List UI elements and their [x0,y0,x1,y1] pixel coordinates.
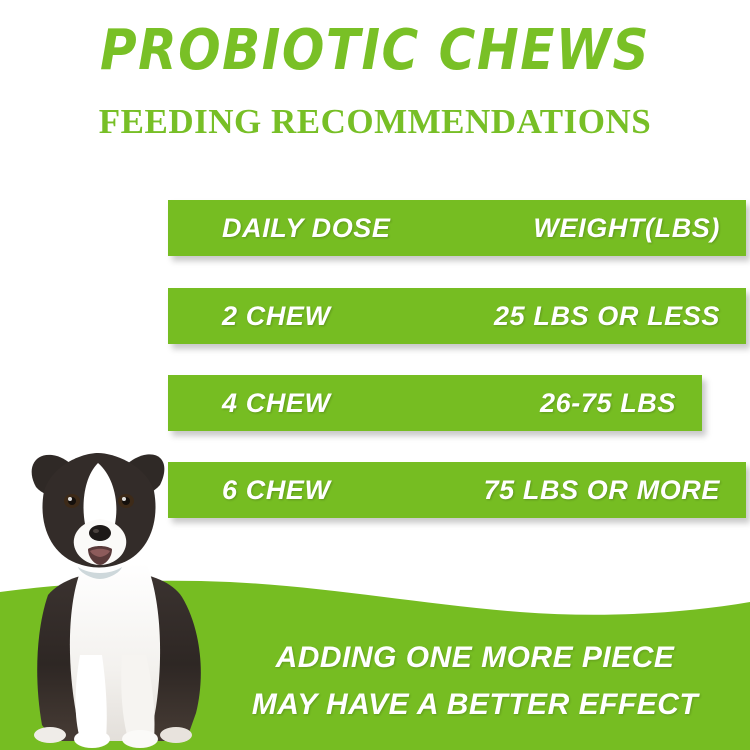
table-row: 2 CHEW 25 LBS OR LESS [168,288,746,344]
dog-photo [10,445,225,750]
column-header-daily-dose: DAILY DOSE [222,213,391,244]
table-row: 4 CHEW 26-75 LBS [168,375,702,431]
table-row-header: DAILY DOSE WEIGHT(LBS) [168,200,746,256]
cell-daily-dose: 4 CHEW [222,388,331,419]
cell-weight: 25 LBS OR LESS [494,301,720,332]
infographic-canvas: PROBIOTIC CHEWS FEEDING RECOMMENDATIONS … [0,0,750,750]
column-header-weight: WEIGHT(LBS) [533,213,720,244]
cell-weight: 75 LBS OR MORE [484,475,720,506]
tagline-line-2: MAY HAVE A BETTER EFFECT [200,688,750,722]
cell-daily-dose: 6 CHEW [222,475,331,506]
cell-daily-dose: 2 CHEW [222,301,331,332]
tagline-line-1: ADDING ONE MORE PIECE [200,641,750,675]
table-row: 6 CHEW 75 LBS OR MORE [168,462,746,518]
cell-weight: 26-75 LBS [540,388,676,419]
